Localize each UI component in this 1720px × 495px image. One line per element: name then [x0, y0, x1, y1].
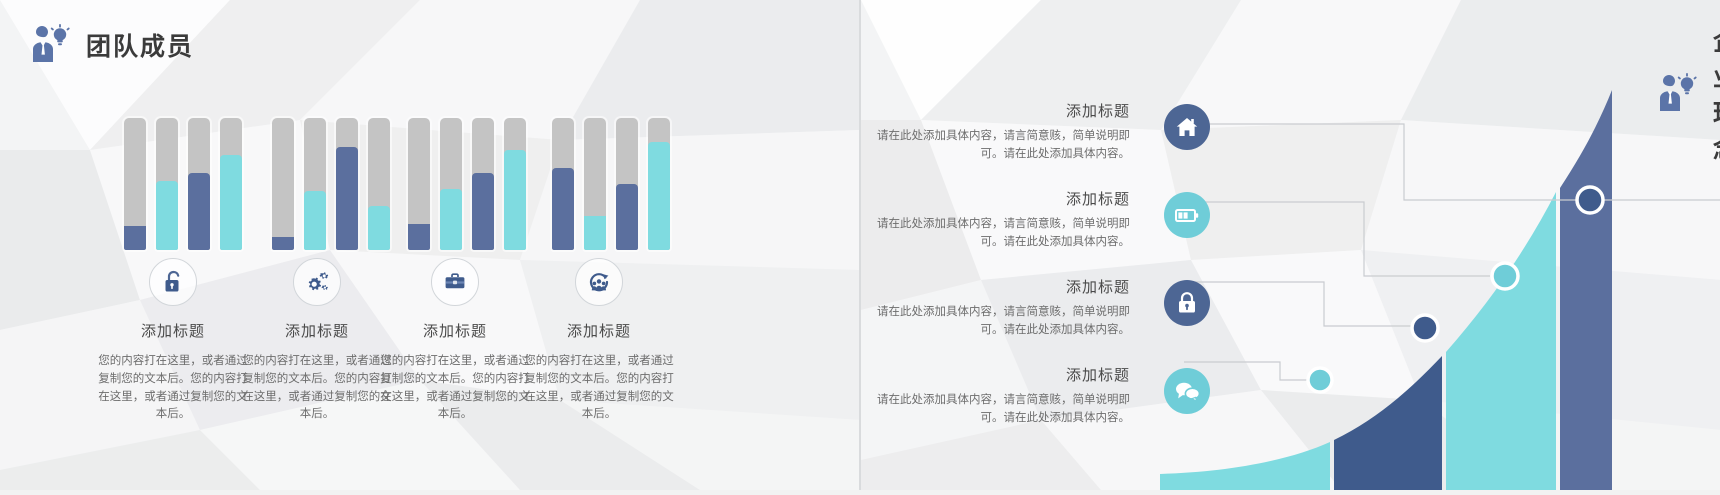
team-cards: 添加标题 您的内容打在这里，或者通过复制您的文本后。您的内容打在这里，或者通过复… — [0, 258, 859, 458]
bar-track — [188, 118, 210, 250]
bar-fill — [124, 226, 146, 250]
bar-fill — [220, 155, 242, 250]
item-title: 添加标题 — [1066, 188, 1130, 209]
card-title: 添加标题 — [98, 320, 248, 341]
bar-fill — [504, 150, 526, 250]
bar-track — [440, 118, 462, 250]
item-body: 请在此处添加具体内容，请言简意赅，简单说明即可。请在此处添加具体内容。 — [870, 126, 1130, 163]
bar-track — [368, 118, 390, 250]
bar-track — [272, 118, 294, 250]
bar-group — [124, 118, 242, 250]
bar-fill — [616, 184, 638, 250]
item-body: 请在此处添加具体内容，请言简意赅，简单说明即可。请在此处添加具体内容。 — [870, 390, 1130, 427]
page-title: 企业理念 — [1713, 22, 1720, 166]
card-body: 您的内容打在这里，或者通过复制您的文本后。您的内容打在这里，或者通过复制您的文本… — [98, 352, 248, 423]
bar-fill — [368, 206, 390, 250]
bar-track — [648, 118, 670, 250]
philosophy-item[interactable]: 添加标题 请在此处添加具体内容，请言简意赅，简单说明即可。请在此处添加具体内容。 — [790, 100, 1210, 168]
gears-icon — [293, 258, 341, 306]
bar-track — [408, 118, 430, 250]
bar-track — [336, 118, 358, 250]
bar-fill — [440, 189, 462, 250]
slide-team-members: 团队成员 — [0, 0, 859, 490]
bar-fill — [336, 147, 358, 250]
bar-track — [304, 118, 326, 250]
chat-bubbles-icon[interactable] — [1164, 368, 1210, 414]
philosophy-connectors — [1160, 80, 1720, 490]
bar-track — [124, 118, 146, 250]
connector-3 — [1184, 282, 1424, 326]
team-leader-idea-icon — [24, 22, 70, 68]
right-header: 企业理念 — [1651, 22, 1720, 166]
team-card[interactable]: 添加标题 您的内容打在这里，或者通过复制您的文本后。您的内容打在这里，或者通过复… — [98, 258, 248, 423]
bar-track — [156, 118, 178, 250]
battery-icon[interactable] — [1164, 192, 1210, 238]
card-body: 您的内容打在这里，或者通过复制您的文本后。您的内容打在这里，或者通过复制您的文本… — [524, 352, 674, 423]
bar-fill — [472, 173, 494, 250]
bar-fill — [188, 173, 210, 250]
card-title: 添加标题 — [242, 320, 392, 341]
item-title: 添加标题 — [1066, 100, 1130, 121]
page-title: 团队成员 — [86, 27, 194, 63]
item-body: 请在此处添加具体内容，请言简意赅，简单说明即可。请在此处添加具体内容。 — [870, 302, 1130, 339]
home-icon[interactable] — [1164, 104, 1210, 150]
slide-pair: 团队成员 — [0, 0, 1720, 490]
node-4 — [1577, 187, 1603, 213]
item-title: 添加标题 — [1066, 276, 1130, 297]
bar-fill — [304, 191, 326, 250]
philosophy-item[interactable]: 添加标题 请在此处添加具体内容，请言简意赅，简单说明即可。请在此处添加具体内容。 — [790, 364, 1210, 432]
lock-icon[interactable] — [1164, 280, 1210, 326]
card-body: 您的内容打在这里，或者通过复制您的文本后。您的内容打在这里，或者通过复制您的文本… — [242, 352, 392, 423]
bar-fill — [584, 216, 606, 250]
bar-fill — [648, 142, 670, 250]
bar-fill — [272, 237, 294, 250]
teamwork-refresh-icon — [575, 258, 623, 306]
team-leader-idea-icon — [1651, 71, 1697, 117]
team-bar-chart — [0, 118, 859, 250]
philosophy-item[interactable]: 添加标题 请在此处添加具体内容，请言简意赅，简单说明即可。请在此处添加具体内容。 — [790, 188, 1210, 256]
bar-track — [504, 118, 526, 250]
bar-track — [584, 118, 606, 250]
bar-fill — [552, 168, 574, 250]
philosophy-item[interactable]: 添加标题 请在此处添加具体内容，请言简意赅，简单说明即可。请在此处添加具体内容。 — [790, 276, 1210, 344]
team-card[interactable]: 添加标题 您的内容打在这里，或者通过复制您的文本后。您的内容打在这里，或者通过复… — [242, 258, 392, 423]
left-header: 团队成员 — [24, 22, 194, 68]
bar-track — [616, 118, 638, 250]
bar-group — [272, 118, 390, 250]
node-2 — [1412, 315, 1438, 341]
connector-1 — [1184, 124, 1720, 200]
bar-fill — [156, 181, 178, 250]
briefcase-icon — [431, 258, 479, 306]
bar-track — [552, 118, 574, 250]
connector-2 — [1184, 202, 1490, 276]
bar-fill — [408, 224, 430, 250]
item-body: 请在此处添加具体内容，请言简意赅，简单说明即可。请在此处添加具体内容。 — [870, 214, 1130, 251]
team-card[interactable]: 添加标题 您的内容打在这里，或者通过复制您的文本后。您的内容打在这里，或者通过复… — [524, 258, 674, 423]
bar-track — [220, 118, 242, 250]
card-title: 添加标题 — [380, 320, 530, 341]
bar-group — [408, 118, 526, 250]
bar-group — [552, 118, 670, 250]
item-title: 添加标题 — [1066, 364, 1130, 385]
card-body: 您的内容打在这里，或者通过复制您的文本后。您的内容打在这里，或者通过复制您的文本… — [380, 352, 530, 423]
card-title: 添加标题 — [524, 320, 674, 341]
unlock-icon — [149, 258, 197, 306]
node-1 — [1308, 368, 1332, 392]
node-3 — [1492, 263, 1518, 289]
philosophy-list: 添加标题 请在此处添加具体内容，请言简意赅，简单说明即可。请在此处添加具体内容。… — [790, 100, 1210, 452]
team-card[interactable]: 添加标题 您的内容打在这里，或者通过复制您的文本后。您的内容打在这里，或者通过复… — [380, 258, 530, 423]
bar-track — [472, 118, 494, 250]
